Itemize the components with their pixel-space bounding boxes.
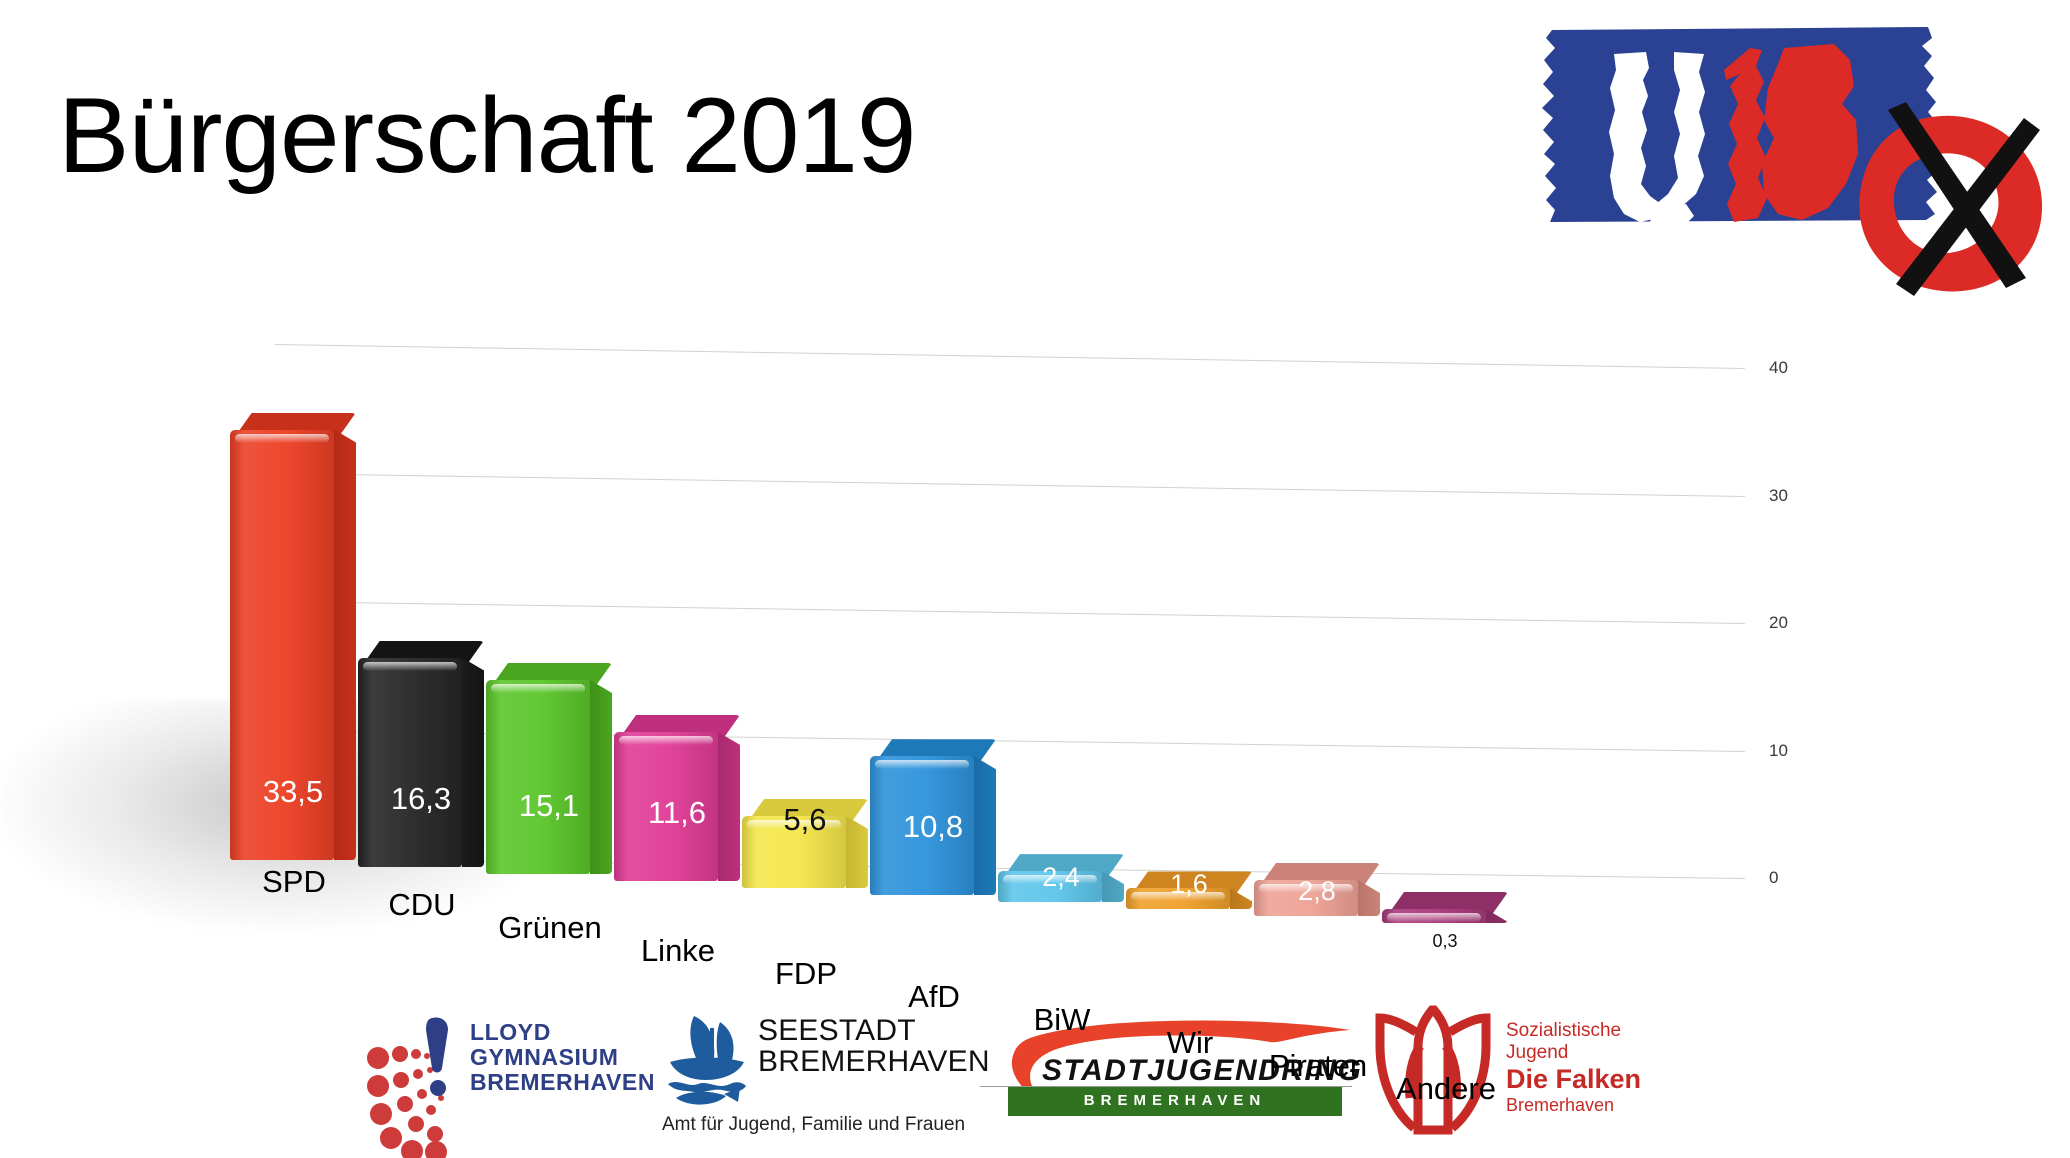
bar-highlight bbox=[1387, 913, 1481, 922]
lloyd-line-1: LLOYD bbox=[470, 1020, 655, 1045]
bar-highlight bbox=[875, 760, 969, 769]
lloyd-line-3: BREMERHAVEN bbox=[470, 1070, 655, 1095]
seestadt-line-1: SEESTADT bbox=[758, 1016, 990, 1047]
gridline-30 bbox=[275, 473, 1745, 497]
falken-line-3: Bremerhaven bbox=[1506, 1095, 1660, 1116]
tick-label-20: 20 bbox=[1769, 613, 1788, 633]
bar-chart-3d: 403020100 0,3Andere2,8Piraten1,6Wir2,4Bi… bbox=[0, 300, 2070, 1000]
tick-label-30: 30 bbox=[1769, 486, 1788, 506]
falken-line-1: Sozialistische Jugend bbox=[1506, 1020, 1660, 1064]
category-label-biw: BiW bbox=[990, 1002, 1134, 1038]
seestadt-line-2: BREMERHAVEN bbox=[758, 1047, 990, 1078]
category-label-wir: Wir bbox=[1118, 1025, 1262, 1061]
bar-gr-nen bbox=[486, 680, 590, 874]
bar-highlight bbox=[619, 736, 713, 745]
ship-fish-icon bbox=[660, 1012, 752, 1108]
seestadt-subtitle: Amt für Jugend, Familie und Frauen bbox=[662, 1114, 965, 1136]
bar-value-linke: 11,6 bbox=[614, 795, 740, 831]
category-label-gr-nen: Grünen bbox=[478, 910, 622, 946]
category-label-linke: Linke bbox=[606, 933, 750, 969]
category-label-spd: SPD bbox=[222, 864, 366, 900]
falken-line-2: Die Falken bbox=[1506, 1064, 1660, 1095]
bar-cdu bbox=[358, 658, 462, 867]
gridline-20 bbox=[275, 601, 1745, 624]
bar-value-wir: 1,6 bbox=[1126, 869, 1252, 900]
bar-value-cdu: 16,3 bbox=[358, 781, 484, 817]
category-label-fdp: FDP bbox=[734, 956, 878, 992]
bar-front-face bbox=[358, 658, 462, 867]
bar-highlight bbox=[491, 684, 585, 693]
bar-value-afd: 10,8 bbox=[870, 809, 996, 845]
page-title: Bürgerschaft 2019 bbox=[58, 82, 915, 189]
bar-value-piraten: 2,8 bbox=[1254, 876, 1380, 907]
tick-label-0: 0 bbox=[1769, 868, 1778, 888]
bar-side-face bbox=[462, 658, 484, 867]
bar-side-face bbox=[1486, 909, 1508, 923]
seestadt-bremerhaven-logo: SEESTADT BREMERHAVEN Amt für Jugend, Fam… bbox=[660, 1010, 970, 1140]
bar-value-biw: 2,4 bbox=[998, 862, 1124, 893]
category-label-piraten: Piraten bbox=[1246, 1048, 1390, 1084]
bar-value-andere: 0,3 bbox=[1382, 931, 1508, 952]
gridline-40 bbox=[275, 344, 1745, 369]
lloyd-line-2: GYMNASIUM bbox=[470, 1045, 655, 1070]
bar-side-face bbox=[590, 680, 612, 874]
tick-label-40: 40 bbox=[1769, 358, 1788, 378]
category-label-andere: Andere bbox=[1374, 1071, 1518, 1107]
category-label-afd: AfD bbox=[862, 979, 1006, 1015]
bar-value-fdp: 5,6 bbox=[742, 802, 868, 838]
lloyd-dots-icon bbox=[360, 1010, 465, 1158]
stadtjugendring-band: BREMERHAVEN bbox=[1008, 1086, 1342, 1116]
bar-front-face bbox=[486, 680, 590, 874]
tick-label-10: 10 bbox=[1769, 741, 1788, 761]
bar-value-spd: 33,5 bbox=[230, 774, 356, 810]
u18-logo bbox=[1528, 8, 2048, 296]
bar-andere bbox=[1382, 909, 1486, 923]
bar-highlight bbox=[235, 434, 329, 443]
lloyd-gymnasium-logo: LLOYD GYMNASIUM BREMERHAVEN bbox=[360, 1006, 630, 1156]
bar-highlight bbox=[363, 662, 457, 671]
bar-value-gr-nen: 15,1 bbox=[486, 788, 612, 824]
stadtjugendring-divider bbox=[980, 1086, 1352, 1087]
category-label-cdu: CDU bbox=[350, 887, 494, 923]
